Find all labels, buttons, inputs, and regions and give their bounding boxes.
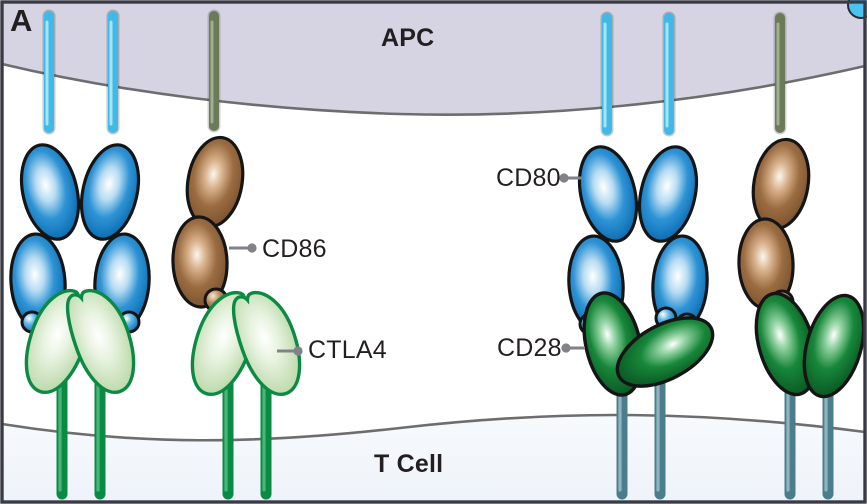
cd80-stalk-right-2 [667, 18, 669, 130]
figure-panel-a: A APC T Cell CD86 CTLA4 CD80 CD28 [0, 0, 867, 504]
cd86-molecule [171, 133, 249, 308]
cd28-stalk-right [658, 380, 660, 494]
apc-cell-body [2, 2, 865, 115]
leader-line-cd28 [561, 343, 585, 352]
cd80-molecule-right-2 [631, 141, 710, 334]
cd80-stalk-left [47, 16, 49, 128]
cd86-label: CD86 [262, 235, 327, 264]
cd28-label: CD28 [497, 334, 562, 363]
cd86-stalk-2 [778, 18, 780, 128]
panel-letter: A [10, 3, 32, 39]
apc-label: APC [381, 24, 434, 53]
cd80-stalk-right [111, 16, 113, 128]
tcell-label: T Cell [374, 450, 443, 479]
ctla4-molecule-right-2 [226, 284, 312, 402]
cd86-stalk [212, 16, 214, 126]
cd80-stalk-left-2 [605, 18, 607, 130]
cd80-label: CD80 [496, 164, 561, 193]
cd28-stalk-left-2 [788, 378, 790, 494]
leader-line-cd86 [229, 243, 257, 252]
cd86-molecule-2 [737, 135, 815, 310]
ctla4-label: CTLA4 [308, 336, 387, 365]
cd28-stalk-left [620, 380, 622, 494]
schematic-canvas [0, 0, 867, 504]
